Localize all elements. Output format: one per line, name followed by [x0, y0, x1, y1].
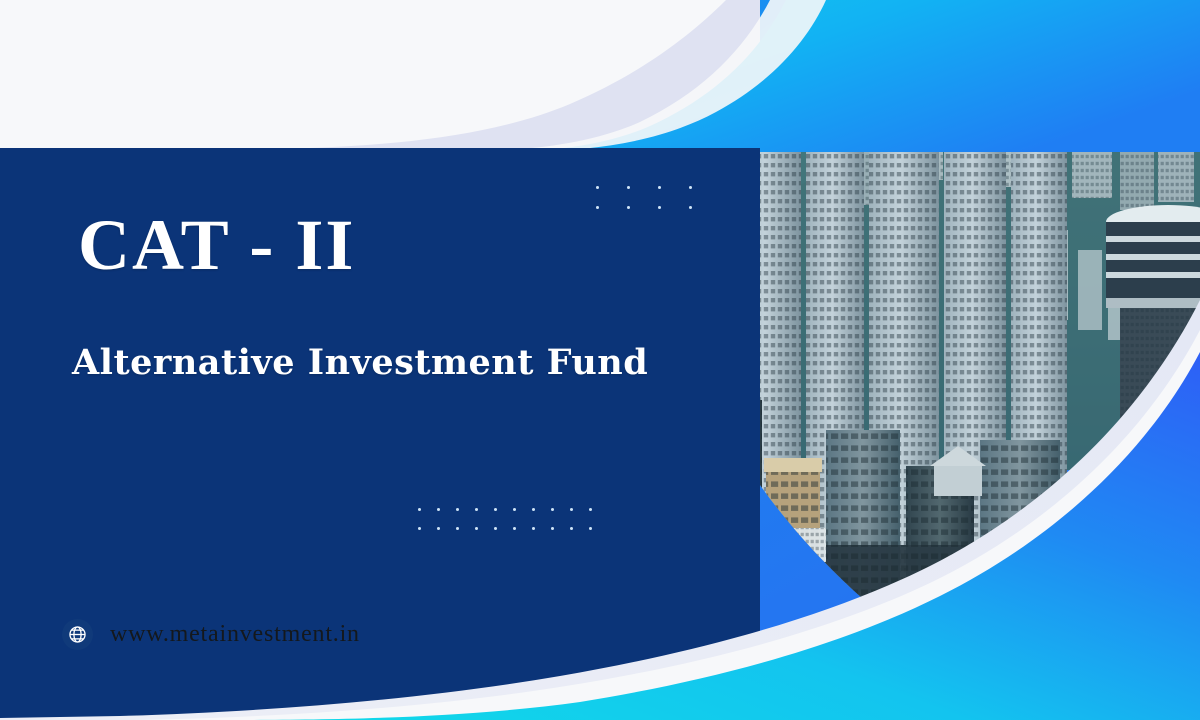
dot	[437, 508, 440, 511]
dot	[456, 527, 459, 530]
dot-grid-bottom	[418, 508, 592, 530]
dot	[627, 186, 630, 189]
dot-grid-top	[596, 186, 692, 209]
dot	[589, 508, 592, 511]
dot	[532, 527, 535, 530]
dot	[513, 527, 516, 530]
dot	[627, 206, 630, 209]
dot	[570, 527, 573, 530]
dot	[513, 508, 516, 511]
dot	[658, 186, 661, 189]
dot	[475, 527, 478, 530]
dot	[494, 527, 497, 530]
dot	[658, 206, 661, 209]
dot	[551, 527, 554, 530]
website-link[interactable]: www.metainvestment.in	[62, 612, 360, 656]
dot	[418, 508, 421, 511]
website-url-text: www.metainvestment.in	[110, 621, 360, 648]
dot	[570, 508, 573, 511]
dot	[689, 186, 692, 189]
dot	[532, 508, 535, 511]
dot	[551, 508, 554, 511]
poster-canvas: CAT - II Alternative Investment Fund	[0, 0, 1200, 720]
dot	[689, 206, 692, 209]
dot	[596, 186, 599, 189]
dot	[437, 527, 440, 530]
dot	[418, 527, 421, 530]
globe-icon	[62, 619, 93, 650]
dot	[589, 527, 592, 530]
dot	[475, 508, 478, 511]
dot	[456, 508, 459, 511]
dot	[494, 508, 497, 511]
dot	[596, 206, 599, 209]
